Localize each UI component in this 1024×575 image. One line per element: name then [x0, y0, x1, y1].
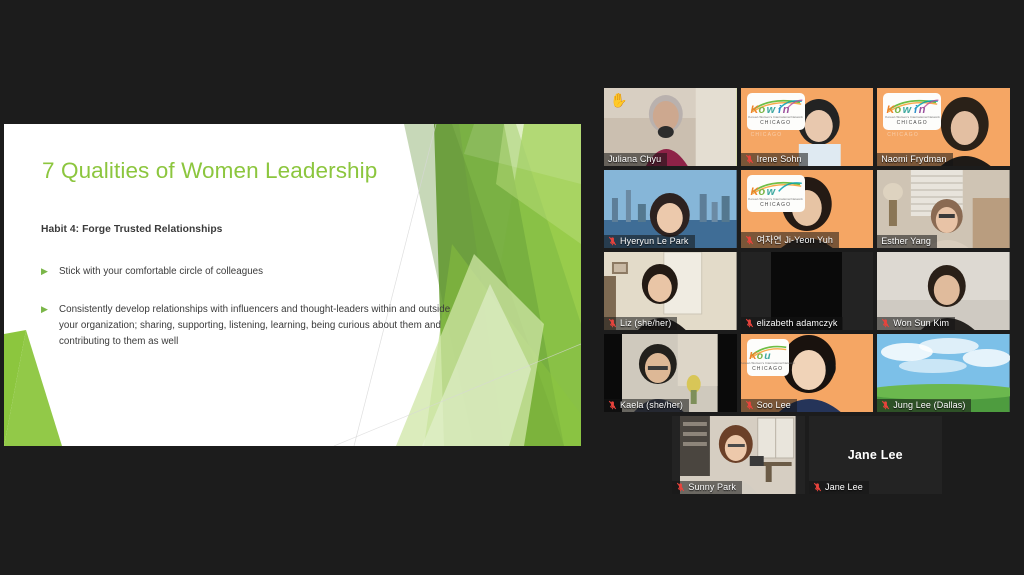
shared-screen-region[interactable]: 7 Qualities of Women Leadership Habit 4:… — [0, 120, 585, 450]
gallery-row: Sunny Park Jane Lee Jane Lee — [604, 416, 1010, 494]
participant-tile[interactable]: Won Sun Kim — [877, 252, 1010, 330]
participant-name: Soo Lee — [757, 400, 791, 410]
participant-tile[interactable]: K o w i n Korean Women's International N… — [877, 88, 1010, 166]
participant-name: Won Sun Kim — [893, 318, 949, 328]
slide-bullet-item: ▶ Stick with your comfortable circle of … — [41, 264, 461, 280]
kowin-wordmark-icon: K o w — [747, 181, 805, 196]
kowin-wordmark-icon: K o w i n — [747, 99, 805, 114]
participant-tile[interactable]: Liz (she/her) — [604, 252, 737, 330]
zoom-meeting-window: 7 Qualities of Women Leadership Habit 4:… — [0, 0, 1024, 575]
participant-nameplate: Naomi Frydman — [877, 153, 952, 166]
kowin-wordmark-icon: K o w i n — [883, 99, 941, 114]
participant-name: Liz (she/her) — [620, 318, 671, 328]
participant-nameplate: Jane Lee — [809, 481, 869, 494]
participant-nameplate: Hyeryun Le Park — [604, 235, 695, 248]
participant-nameplate: Soo Lee — [741, 399, 797, 412]
gallery-row: Liz (she/her) elizabeth adamczyk — [604, 252, 1010, 330]
svg-text:n: n — [919, 104, 926, 114]
participant-tile[interactable]: Sunny Park — [672, 416, 805, 494]
participant-tile[interactable]: K o u Korean Women's International Netwo… — [741, 334, 874, 412]
participant-gallery: ✋ Juliana Chyu — [604, 88, 1010, 498]
raised-hand-icon: ✋ — [610, 93, 627, 107]
kowin-logo: K o w i n Korean Women's International N… — [883, 93, 941, 130]
slide-bullet-text: Stick with your comfortable circle of co… — [59, 264, 263, 280]
kowin-logo: K o w Korean Women's International Netwo… — [747, 175, 805, 212]
participant-tile[interactable]: Jung Lee (Dallas) — [877, 334, 1010, 412]
participant-nameplate: Kaela (she/her) — [604, 399, 689, 412]
gallery-row: Hyeryun Le Park K — [604, 170, 1010, 248]
participant-tile[interactable]: Kaela (she/her) — [604, 334, 737, 412]
participant-tile[interactable]: K o w Korean Women's International Netwo… — [741, 170, 874, 248]
participant-tile[interactable]: Jane Lee Jane Lee — [809, 416, 942, 494]
microphone-muted-icon — [608, 400, 617, 410]
kowin-city-label: CHICAGO — [760, 120, 791, 126]
microphone-muted-icon — [745, 154, 754, 164]
participant-name: Sunny Park — [688, 482, 736, 492]
microphone-muted-icon — [608, 236, 617, 246]
participant-nameplate: Irene Sohn — [741, 153, 808, 166]
microphone-muted-icon — [881, 318, 890, 328]
participant-nameplate: Won Sun Kim — [877, 317, 955, 330]
kowin-logo: K o u Korean Women's International Netwo… — [747, 339, 789, 376]
svg-text:n: n — [783, 104, 790, 114]
kowin-ghost-label: CHICAGO — [887, 132, 919, 138]
participant-tile[interactable]: elizabeth adamczyk — [741, 252, 874, 330]
kowin-logo: K o w i n Korean Women's International N… — [747, 93, 805, 130]
participant-name: Juliana Chyu — [608, 154, 661, 164]
participant-tile[interactable]: Esther Yang — [877, 170, 1010, 248]
slide-subtitle: Habit 4: Forge Trusted Relationships — [41, 224, 222, 235]
microphone-muted-icon — [813, 482, 822, 492]
participant-name: Naomi Frydman — [881, 154, 946, 164]
microphone-muted-icon — [676, 482, 685, 492]
gallery-row: ✋ Juliana Chyu — [604, 88, 1010, 166]
participant-nameplate: elizabeth adamczyk — [741, 317, 844, 330]
participant-name: Kaela (she/her) — [620, 400, 683, 410]
participant-nameplate: Sunny Park — [672, 481, 742, 494]
participant-nameplate: 여자연 Ji-Yeon Yuh — [741, 232, 839, 248]
slide-bullet-text: Consistently develop relationships with … — [59, 302, 461, 350]
participant-nameplate: Jung Lee (Dallas) — [877, 399, 971, 412]
svg-text:i: i — [778, 104, 782, 114]
presentation-slide: 7 Qualities of Women Leadership Habit 4:… — [4, 124, 581, 446]
participant-nameplate: Liz (she/her) — [604, 317, 677, 330]
participant-name: Jane Lee — [825, 482, 863, 492]
microphone-muted-icon — [745, 235, 754, 245]
kowin-city-label: CHICAGO — [897, 120, 928, 126]
microphone-muted-icon — [745, 318, 754, 328]
svg-text:i: i — [914, 104, 918, 114]
kowin-ghost-label: CHICAGO — [751, 132, 783, 138]
kowin-subtitle: Korean Women's International Network — [741, 361, 795, 365]
svg-text:o: o — [895, 104, 902, 114]
kowin-city-label: CHICAGO — [752, 366, 783, 372]
slide-title: 7 Qualities of Women Leadership — [42, 158, 377, 184]
kowin-wordmark-icon: K o u — [747, 345, 787, 360]
participant-nameplate: Juliana Chyu — [604, 153, 667, 166]
svg-text:o: o — [758, 186, 765, 196]
participant-tile[interactable]: K o w i n Korean Women's International N… — [741, 88, 874, 166]
kowin-subtitle: Korean Women's International Network — [748, 115, 802, 119]
svg-text:o: o — [757, 351, 763, 360]
kowin-city-label: CHICAGO — [760, 202, 791, 208]
kowin-subtitle: Korean Women's International Network — [748, 197, 802, 201]
microphone-muted-icon — [881, 400, 890, 410]
participant-tile[interactable]: ✋ Juliana Chyu — [604, 88, 737, 166]
slide-bullet-item: ▶ Consistently develop relationships wit… — [41, 302, 461, 350]
bullet-triangle-icon: ▶ — [41, 302, 59, 350]
bullet-triangle-icon: ▶ — [41, 264, 59, 280]
microphone-muted-icon — [608, 318, 617, 328]
participant-name: Hyeryun Le Park — [620, 236, 689, 246]
svg-text:w: w — [903, 104, 913, 114]
participant-nameplate: Esther Yang — [877, 235, 937, 248]
participant-name: Jung Lee (Dallas) — [893, 400, 965, 410]
svg-text:w: w — [766, 104, 776, 114]
participant-name: 여자연 Ji-Yeon Yuh — [757, 233, 833, 246]
kowin-subtitle: Korean Women's International Network — [885, 115, 939, 119]
participant-name: elizabeth adamczyk — [757, 318, 838, 328]
participant-name: Irene Sohn — [757, 154, 802, 164]
svg-text:u: u — [765, 351, 772, 360]
participant-tile[interactable]: Hyeryun Le Park — [604, 170, 737, 248]
gallery-row: Kaela (she/her) K — [604, 334, 1010, 412]
svg-text:o: o — [758, 104, 765, 114]
slide-bullet-list: ▶ Stick with your comfortable circle of … — [41, 264, 461, 371]
svg-text:w: w — [766, 186, 776, 196]
participant-name: Esther Yang — [881, 236, 931, 246]
microphone-muted-icon — [745, 400, 754, 410]
